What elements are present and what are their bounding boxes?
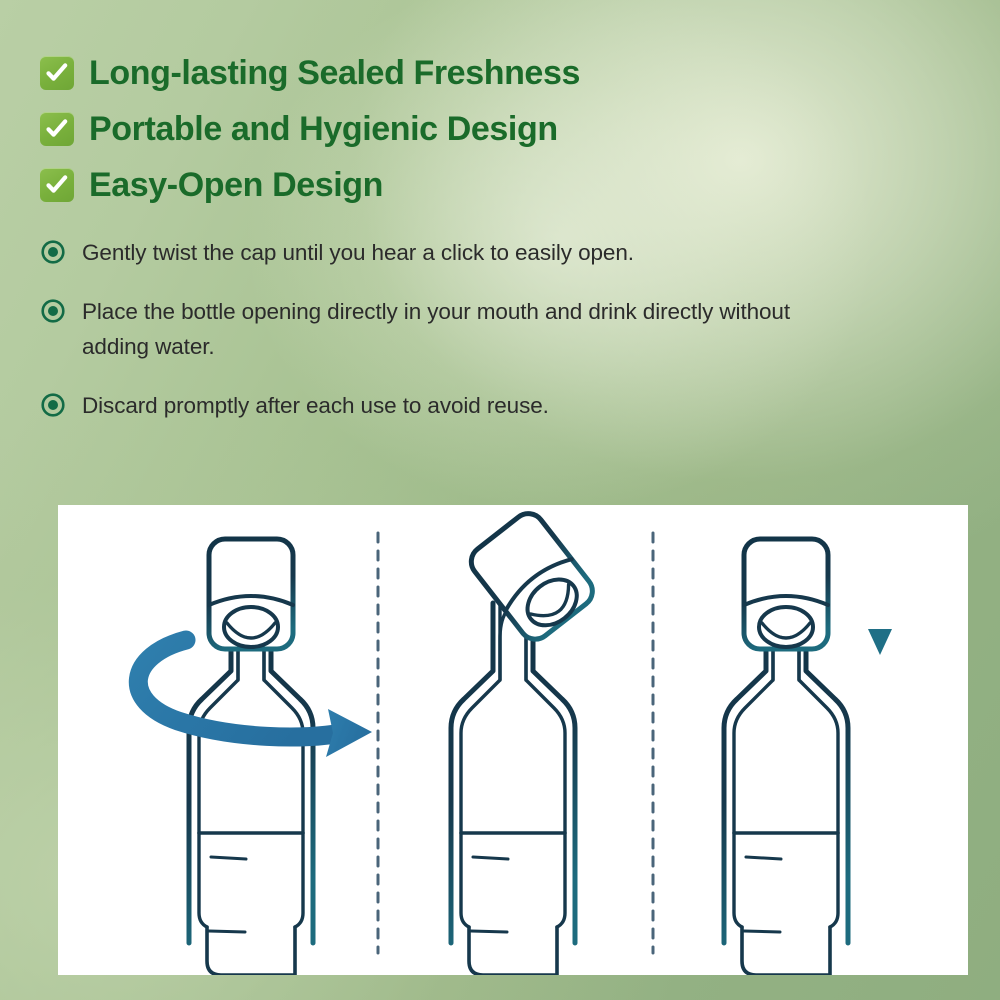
circular-rotation-arrow (138, 640, 372, 757)
feature-headline-label: Long-lasting Sealed Freshness (89, 56, 580, 90)
radio-bullet-icon (40, 239, 66, 265)
radio-bullet-icon (40, 392, 66, 418)
check-square-icon (40, 168, 74, 202)
check-square-icon (40, 56, 74, 90)
twist-cap-illustration (138, 539, 372, 975)
feature-headline-label: Portable and Hygienic Design (89, 112, 558, 146)
check-square-icon (40, 112, 74, 146)
feature-headline-item: Portable and Hygienic Design (40, 101, 800, 157)
instruction-text: Discard promptly after each use to avoid… (82, 389, 549, 424)
instruction-item: Discard promptly after each use to avoid… (40, 389, 840, 424)
instruction-list: Gently twist the cap until you hear a cl… (40, 236, 840, 448)
feature-headline-list: Long-lasting Sealed Freshness Portable a… (40, 45, 800, 213)
down-arrow-icon (868, 583, 892, 655)
feature-headline-item: Easy-Open Design (40, 157, 800, 213)
feature-headline-label: Easy-Open Design (89, 168, 383, 202)
illustration-panel (58, 505, 968, 975)
instruction-item: Place the bottle opening directly in you… (40, 295, 840, 365)
instruction-text: Place the bottle opening directly in you… (82, 295, 812, 365)
radio-bullet-icon (40, 298, 66, 324)
instruction-item: Gently twist the cap until you hear a cl… (40, 236, 840, 271)
feature-headline-item: Long-lasting Sealed Freshness (40, 45, 800, 101)
replace-cap-illustration (724, 539, 892, 975)
instruction-text: Gently twist the cap until you hear a cl… (82, 236, 634, 271)
remove-cap-illustration (451, 507, 599, 975)
